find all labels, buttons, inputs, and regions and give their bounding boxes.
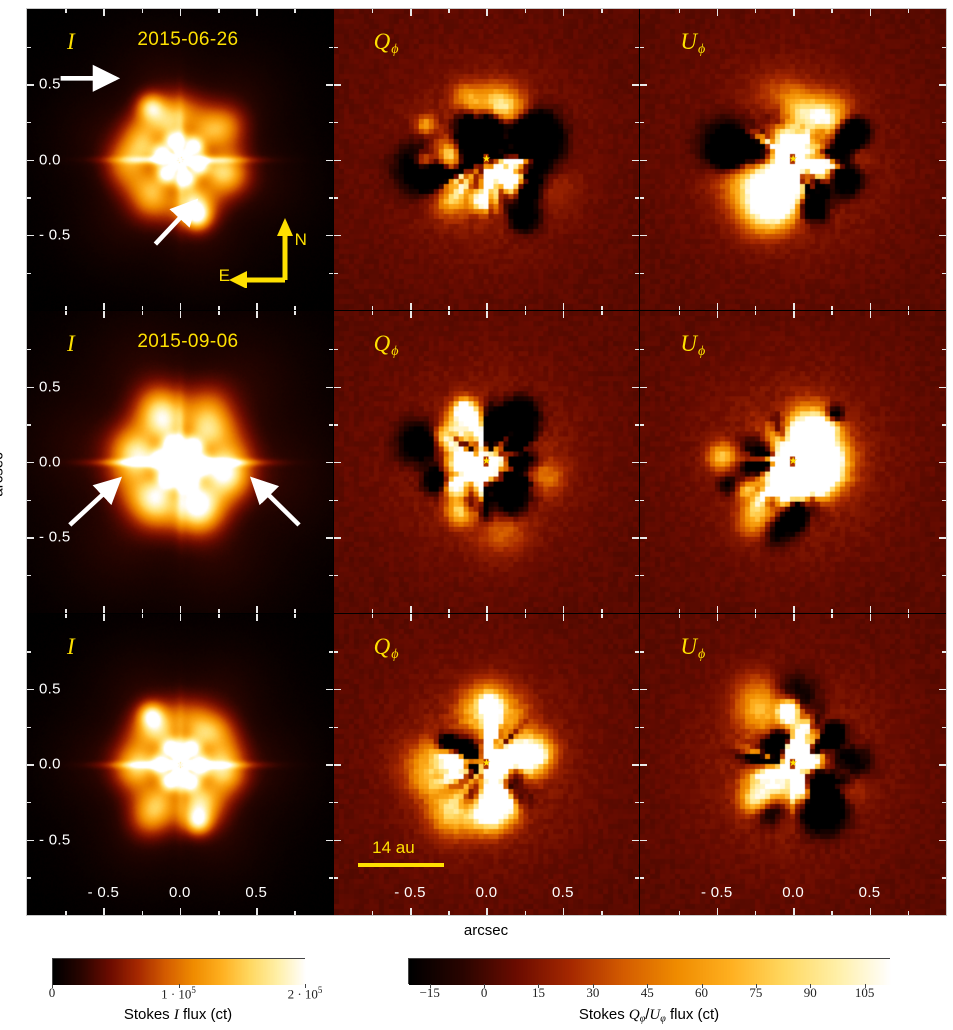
axis-tick bbox=[372, 609, 374, 613]
axis-tick bbox=[27, 424, 31, 426]
axis-tick bbox=[942, 197, 946, 199]
axis-tick bbox=[717, 311, 719, 318]
axis-tick bbox=[793, 614, 795, 621]
axis-tick bbox=[486, 614, 488, 621]
axis-tick bbox=[939, 689, 946, 691]
axis-tick bbox=[632, 160, 639, 162]
panel-stokes-i-row2[interactable]: 0.50.0- 0.5I2015-09-06 bbox=[27, 311, 333, 612]
stokes-parameter-label: Qϕ bbox=[374, 634, 399, 663]
axis-tick bbox=[908, 911, 910, 915]
y-axis-title: arcsec bbox=[0, 452, 7, 496]
axis-tick bbox=[334, 877, 338, 879]
axis-tick bbox=[218, 614, 220, 618]
axis-tick bbox=[27, 689, 34, 691]
compass-north-label: N bbox=[295, 230, 307, 250]
axis-tick bbox=[793, 908, 795, 915]
axis-tick bbox=[640, 349, 644, 351]
stokes-parameter-label: I bbox=[67, 634, 75, 660]
x-tick-label: 0.0 bbox=[476, 884, 498, 901]
axis-tick bbox=[563, 606, 565, 613]
colorbar-stokes-i-title: Stokes I flux (ct) bbox=[124, 1006, 232, 1024]
axis-tick bbox=[939, 235, 946, 237]
colorbar-tick-label: 45 bbox=[641, 985, 654, 1001]
axis-tick bbox=[334, 689, 341, 691]
axis-tick bbox=[679, 311, 681, 315]
axis-tick bbox=[334, 197, 338, 199]
panel-stokes-qphi-row1[interactable]: Qϕ★ bbox=[334, 9, 640, 310]
axis-tick bbox=[563, 614, 565, 621]
axis-tick bbox=[329, 575, 333, 577]
axis-tick bbox=[640, 462, 647, 464]
axis-tick bbox=[65, 306, 67, 310]
axis-tick bbox=[525, 911, 527, 915]
axis-tick bbox=[410, 9, 412, 16]
y-tick-label: 0.5 bbox=[39, 378, 61, 395]
axis-tick bbox=[27, 122, 31, 124]
axis-tick bbox=[635, 877, 639, 879]
axis-tick bbox=[334, 387, 341, 389]
axis-tick bbox=[755, 9, 757, 13]
axis-tick bbox=[65, 614, 67, 618]
axis-tick bbox=[640, 840, 647, 842]
axis-tick bbox=[942, 47, 946, 49]
x-tick-label: 0.0 bbox=[782, 884, 804, 901]
panel-stokes-uphi-row3[interactable]: - 0.50.00.5Uϕ★ bbox=[640, 614, 946, 915]
axis-tick bbox=[908, 311, 910, 315]
figure-root: 0.50.0- 0.5I2015-06-26NEQϕ★Uϕ★0.50.0- 0.… bbox=[0, 0, 953, 1030]
axis-tick bbox=[717, 9, 719, 16]
y-tick-label: 0.0 bbox=[39, 453, 61, 470]
scale-bar-label: 14 au bbox=[372, 838, 415, 858]
axis-tick bbox=[717, 303, 719, 310]
x-tick-label: - 0.5 bbox=[88, 884, 120, 901]
axis-tick bbox=[334, 84, 341, 86]
colorbar-tick-label: 0 bbox=[49, 985, 56, 1001]
axis-tick bbox=[525, 614, 527, 618]
axis-tick bbox=[525, 609, 527, 613]
x-axis-title: arcsec bbox=[464, 922, 508, 939]
axis-tick bbox=[755, 911, 757, 915]
axis-tick bbox=[65, 9, 67, 13]
axis-tick bbox=[180, 303, 182, 310]
axis-tick bbox=[640, 500, 644, 502]
axis-tick bbox=[679, 306, 681, 310]
y-tick-label: 0.5 bbox=[39, 76, 61, 93]
axis-tick bbox=[717, 606, 719, 613]
axis-tick bbox=[640, 764, 647, 766]
axis-tick bbox=[525, 9, 527, 13]
axis-tick bbox=[640, 689, 647, 691]
axis-tick bbox=[635, 47, 639, 49]
axis-tick bbox=[679, 911, 681, 915]
axis-tick bbox=[326, 689, 333, 691]
colorbar-tick-label: 0 bbox=[481, 985, 488, 1001]
axis-tick bbox=[103, 311, 105, 318]
axis-tick bbox=[27, 651, 31, 653]
axis-tick bbox=[635, 802, 639, 804]
axis-tick bbox=[640, 424, 644, 426]
colorbar-tick-label: −15 bbox=[420, 985, 440, 1001]
axis-tick bbox=[27, 84, 34, 86]
axis-tick bbox=[27, 462, 34, 464]
axis-tick bbox=[635, 197, 639, 199]
axis-tick bbox=[793, 606, 795, 613]
axis-tick bbox=[831, 311, 833, 315]
axis-tick bbox=[334, 349, 338, 351]
panel-stokes-uphi-row2[interactable]: Uϕ★ bbox=[640, 311, 946, 612]
axis-tick bbox=[632, 462, 639, 464]
axis-tick bbox=[601, 306, 603, 310]
axis-tick bbox=[329, 197, 333, 199]
observation-date-label: 2015-06-26 bbox=[137, 29, 238, 51]
y-tick-label: 0.5 bbox=[39, 680, 61, 697]
y-tick-label: 0.0 bbox=[39, 756, 61, 773]
axis-tick bbox=[329, 727, 333, 729]
axis-tick bbox=[635, 349, 639, 351]
axis-tick bbox=[326, 160, 333, 162]
axis-tick bbox=[326, 387, 333, 389]
colorbar-tick-label: 2 · 105 bbox=[288, 985, 323, 1002]
axis-tick bbox=[755, 311, 757, 315]
axis-tick bbox=[831, 911, 833, 915]
axis-tick bbox=[326, 537, 333, 539]
central-star-marker: ★ bbox=[789, 457, 798, 467]
axis-tick bbox=[640, 727, 644, 729]
y-tick-label: - 0.5 bbox=[39, 831, 71, 848]
axis-tick bbox=[640, 273, 644, 275]
axis-tick bbox=[870, 303, 872, 310]
axis-tick bbox=[294, 614, 296, 618]
axis-tick bbox=[326, 840, 333, 842]
axis-tick bbox=[65, 311, 67, 315]
axis-tick bbox=[601, 9, 603, 13]
axis-tick bbox=[256, 908, 258, 915]
axis-tick bbox=[525, 311, 527, 315]
axis-tick bbox=[334, 424, 338, 426]
compass-east-label: E bbox=[219, 266, 230, 286]
axis-tick bbox=[329, 651, 333, 653]
axis-tick bbox=[635, 122, 639, 124]
colorbar-tick-label: 60 bbox=[695, 985, 708, 1001]
axis-tick bbox=[334, 727, 338, 729]
axis-tick bbox=[635, 727, 639, 729]
panel-grid: 0.50.0- 0.5I2015-06-26NEQϕ★Uϕ★0.50.0- 0.… bbox=[26, 8, 947, 916]
axis-tick bbox=[27, 877, 31, 879]
axis-tick bbox=[27, 160, 34, 162]
axis-tick bbox=[372, 9, 374, 13]
axis-tick bbox=[180, 614, 182, 621]
axis-tick bbox=[939, 764, 946, 766]
y-tick-label: - 0.5 bbox=[39, 529, 71, 546]
axis-tick bbox=[329, 424, 333, 426]
axis-tick bbox=[103, 614, 105, 621]
axis-tick bbox=[256, 9, 258, 16]
axis-tick bbox=[27, 387, 34, 389]
axis-tick bbox=[831, 9, 833, 13]
central-star-marker: ★ bbox=[482, 759, 491, 769]
central-star-marker: ★ bbox=[789, 759, 798, 769]
axis-tick bbox=[942, 877, 946, 879]
axis-tick bbox=[329, 500, 333, 502]
axis-tick bbox=[640, 84, 647, 86]
axis-tick bbox=[679, 614, 681, 618]
axis-tick bbox=[294, 311, 296, 315]
axis-tick bbox=[294, 9, 296, 13]
axis-tick bbox=[908, 614, 910, 618]
axis-tick bbox=[870, 908, 872, 915]
axis-tick bbox=[372, 911, 374, 915]
axis-tick bbox=[410, 311, 412, 318]
axis-tick bbox=[601, 609, 603, 613]
axis-tick bbox=[334, 160, 341, 162]
axis-tick bbox=[635, 651, 639, 653]
axis-tick bbox=[256, 614, 258, 621]
axis-tick bbox=[908, 306, 910, 310]
axis-tick bbox=[640, 235, 647, 237]
axis-tick bbox=[27, 537, 34, 539]
stokes-parameter-label: Uϕ bbox=[680, 634, 705, 663]
axis-tick bbox=[103, 908, 105, 915]
panel-stokes-i-row1[interactable]: 0.50.0- 0.5I2015-06-26NE bbox=[27, 9, 333, 310]
axis-tick bbox=[142, 911, 144, 915]
axis-tick bbox=[831, 609, 833, 613]
axis-tick bbox=[717, 908, 719, 915]
panel-stokes-qphi-row2[interactable]: Qϕ★ bbox=[334, 311, 640, 612]
axis-tick bbox=[486, 303, 488, 310]
axis-tick bbox=[939, 537, 946, 539]
axis-tick bbox=[870, 614, 872, 621]
axis-tick bbox=[563, 311, 565, 318]
axis-tick bbox=[448, 911, 450, 915]
axis-tick bbox=[218, 306, 220, 310]
axis-tick bbox=[908, 609, 910, 613]
axis-tick bbox=[294, 911, 296, 915]
axis-tick bbox=[640, 387, 647, 389]
axis-tick bbox=[142, 306, 144, 310]
colorbar-tick-label: 105 bbox=[855, 985, 875, 1001]
stokes-parameter-label: I bbox=[67, 29, 75, 55]
panel-stokes-uphi-row1[interactable]: Uϕ★ bbox=[640, 9, 946, 310]
axis-tick bbox=[334, 764, 341, 766]
axis-tick bbox=[486, 311, 488, 318]
axis-tick bbox=[329, 273, 333, 275]
axis-tick bbox=[27, 840, 34, 842]
axis-tick bbox=[372, 306, 374, 310]
axis-tick bbox=[870, 606, 872, 613]
stokes-parameter-label: Uϕ bbox=[680, 331, 705, 360]
x-tick-label: 0.5 bbox=[859, 884, 881, 901]
axis-tick bbox=[632, 689, 639, 691]
colorbar-tick-label: 90 bbox=[804, 985, 817, 1001]
axis-tick bbox=[635, 575, 639, 577]
axis-tick bbox=[640, 47, 644, 49]
colorbar-tick-label: 1 · 105 bbox=[161, 985, 196, 1002]
axis-tick bbox=[870, 311, 872, 318]
axis-tick bbox=[334, 500, 338, 502]
stokes-parameter-label: Uϕ bbox=[680, 29, 705, 58]
axis-tick bbox=[334, 122, 338, 124]
axis-tick bbox=[755, 609, 757, 613]
axis-tick bbox=[870, 9, 872, 16]
axis-tick bbox=[326, 235, 333, 237]
axis-tick bbox=[329, 349, 333, 351]
axis-tick bbox=[65, 609, 67, 613]
axis-tick bbox=[640, 802, 644, 804]
axis-tick bbox=[942, 424, 946, 426]
panel-stokes-qphi-row3[interactable]: - 0.50.00.5Qϕ14 au★ bbox=[334, 614, 640, 915]
axis-tick bbox=[632, 84, 639, 86]
colorbar-tick-label: 15 bbox=[532, 985, 545, 1001]
axis-tick bbox=[180, 311, 182, 318]
axis-tick bbox=[27, 349, 31, 351]
axis-tick bbox=[256, 303, 258, 310]
axis-tick bbox=[326, 462, 333, 464]
axis-tick bbox=[27, 273, 31, 275]
axis-tick bbox=[27, 500, 31, 502]
axis-tick bbox=[218, 9, 220, 13]
axis-tick bbox=[329, 47, 333, 49]
axis-tick bbox=[27, 235, 34, 237]
axis-tick bbox=[942, 651, 946, 653]
axis-tick bbox=[942, 349, 946, 351]
axis-tick bbox=[372, 311, 374, 315]
colorbar-gradient bbox=[53, 959, 306, 985]
axis-tick bbox=[27, 575, 31, 577]
axis-tick bbox=[142, 614, 144, 618]
axis-tick bbox=[679, 9, 681, 13]
axis-tick bbox=[448, 614, 450, 618]
stokes-parameter-label: Qϕ bbox=[374, 29, 399, 58]
axis-tick bbox=[410, 908, 412, 915]
axis-tick bbox=[218, 311, 220, 315]
axis-tick bbox=[640, 122, 644, 124]
colorbar-tick-label: 30 bbox=[586, 985, 599, 1001]
axis-tick bbox=[632, 764, 639, 766]
axis-tick bbox=[942, 727, 946, 729]
axis-tick bbox=[142, 9, 144, 13]
axis-tick bbox=[486, 606, 488, 613]
axis-tick bbox=[908, 9, 910, 13]
axis-tick bbox=[27, 764, 34, 766]
axis-tick bbox=[563, 303, 565, 310]
axis-tick bbox=[448, 609, 450, 613]
axis-tick bbox=[27, 197, 31, 199]
axis-tick bbox=[334, 47, 338, 49]
axis-tick bbox=[448, 9, 450, 13]
compass-rose: NE bbox=[223, 214, 319, 288]
panel-stokes-i-row3[interactable]: 0.50.0- 0.5- 0.50.00.5I bbox=[27, 614, 333, 915]
y-tick-label: 0.0 bbox=[39, 151, 61, 168]
axis-tick bbox=[27, 802, 31, 804]
axis-tick bbox=[448, 306, 450, 310]
axis-tick bbox=[601, 311, 603, 315]
axis-tick bbox=[334, 802, 338, 804]
axis-tick bbox=[334, 651, 338, 653]
axis-tick bbox=[142, 609, 144, 613]
axis-tick bbox=[601, 911, 603, 915]
axis-tick bbox=[218, 609, 220, 613]
axis-tick bbox=[942, 273, 946, 275]
axis-tick bbox=[218, 911, 220, 915]
axis-tick bbox=[329, 122, 333, 124]
axis-tick bbox=[103, 9, 105, 16]
axis-tick bbox=[640, 537, 647, 539]
axis-tick bbox=[640, 197, 644, 199]
central-star-marker: ★ bbox=[482, 155, 491, 165]
axis-tick bbox=[326, 84, 333, 86]
axis-tick bbox=[942, 575, 946, 577]
axis-tick bbox=[329, 802, 333, 804]
axis-tick bbox=[793, 303, 795, 310]
axis-tick bbox=[632, 537, 639, 539]
axis-tick bbox=[334, 537, 341, 539]
x-tick-label: 0.5 bbox=[552, 884, 574, 901]
axis-tick bbox=[180, 908, 182, 915]
axis-tick bbox=[256, 311, 258, 318]
axis-tick bbox=[334, 575, 338, 577]
axis-tick bbox=[793, 9, 795, 16]
axis-tick bbox=[410, 606, 412, 613]
axis-tick bbox=[755, 306, 757, 310]
x-tick-label: 0.5 bbox=[245, 884, 267, 901]
axis-tick bbox=[793, 311, 795, 318]
colorbar-gradient bbox=[409, 959, 891, 985]
axis-tick bbox=[632, 840, 639, 842]
axis-tick bbox=[632, 387, 639, 389]
axis-tick bbox=[942, 122, 946, 124]
axis-tick bbox=[27, 727, 31, 729]
stokes-parameter-label: I bbox=[67, 331, 75, 357]
axis-tick bbox=[942, 500, 946, 502]
axis-tick bbox=[939, 84, 946, 86]
colorbar-tick-label: 75 bbox=[749, 985, 762, 1001]
observation-date-label: 2015-09-06 bbox=[137, 331, 238, 353]
axis-tick bbox=[640, 160, 647, 162]
axis-tick bbox=[326, 764, 333, 766]
axis-tick bbox=[334, 235, 341, 237]
x-tick-label: 0.0 bbox=[169, 884, 191, 901]
central-star-marker: ★ bbox=[789, 155, 798, 165]
axis-tick bbox=[640, 575, 644, 577]
axis-tick bbox=[486, 9, 488, 16]
axis-tick bbox=[635, 424, 639, 426]
axis-tick bbox=[563, 9, 565, 16]
colorbar-stokes-qu-title: Stokes Qφ/Uφ flux (ct) bbox=[579, 1006, 719, 1025]
axis-tick bbox=[372, 614, 374, 618]
axis-tick bbox=[180, 9, 182, 16]
axis-tick bbox=[410, 614, 412, 621]
axis-tick bbox=[103, 303, 105, 310]
axis-tick bbox=[486, 908, 488, 915]
x-tick-label: - 0.5 bbox=[701, 884, 733, 901]
axis-tick bbox=[329, 877, 333, 879]
axis-tick bbox=[939, 840, 946, 842]
scale-bar-line bbox=[358, 863, 444, 867]
axis-tick bbox=[831, 614, 833, 618]
axis-tick bbox=[632, 235, 639, 237]
axis-tick bbox=[601, 614, 603, 618]
axis-tick bbox=[256, 606, 258, 613]
axis-tick bbox=[65, 911, 67, 915]
axis-tick bbox=[334, 273, 338, 275]
central-star-marker: ★ bbox=[482, 457, 491, 467]
axis-tick bbox=[334, 462, 341, 464]
axis-tick bbox=[939, 160, 946, 162]
scale-bar: 14 au bbox=[358, 837, 444, 867]
axis-tick bbox=[410, 303, 412, 310]
axis-tick bbox=[334, 840, 341, 842]
axis-tick bbox=[755, 614, 757, 618]
